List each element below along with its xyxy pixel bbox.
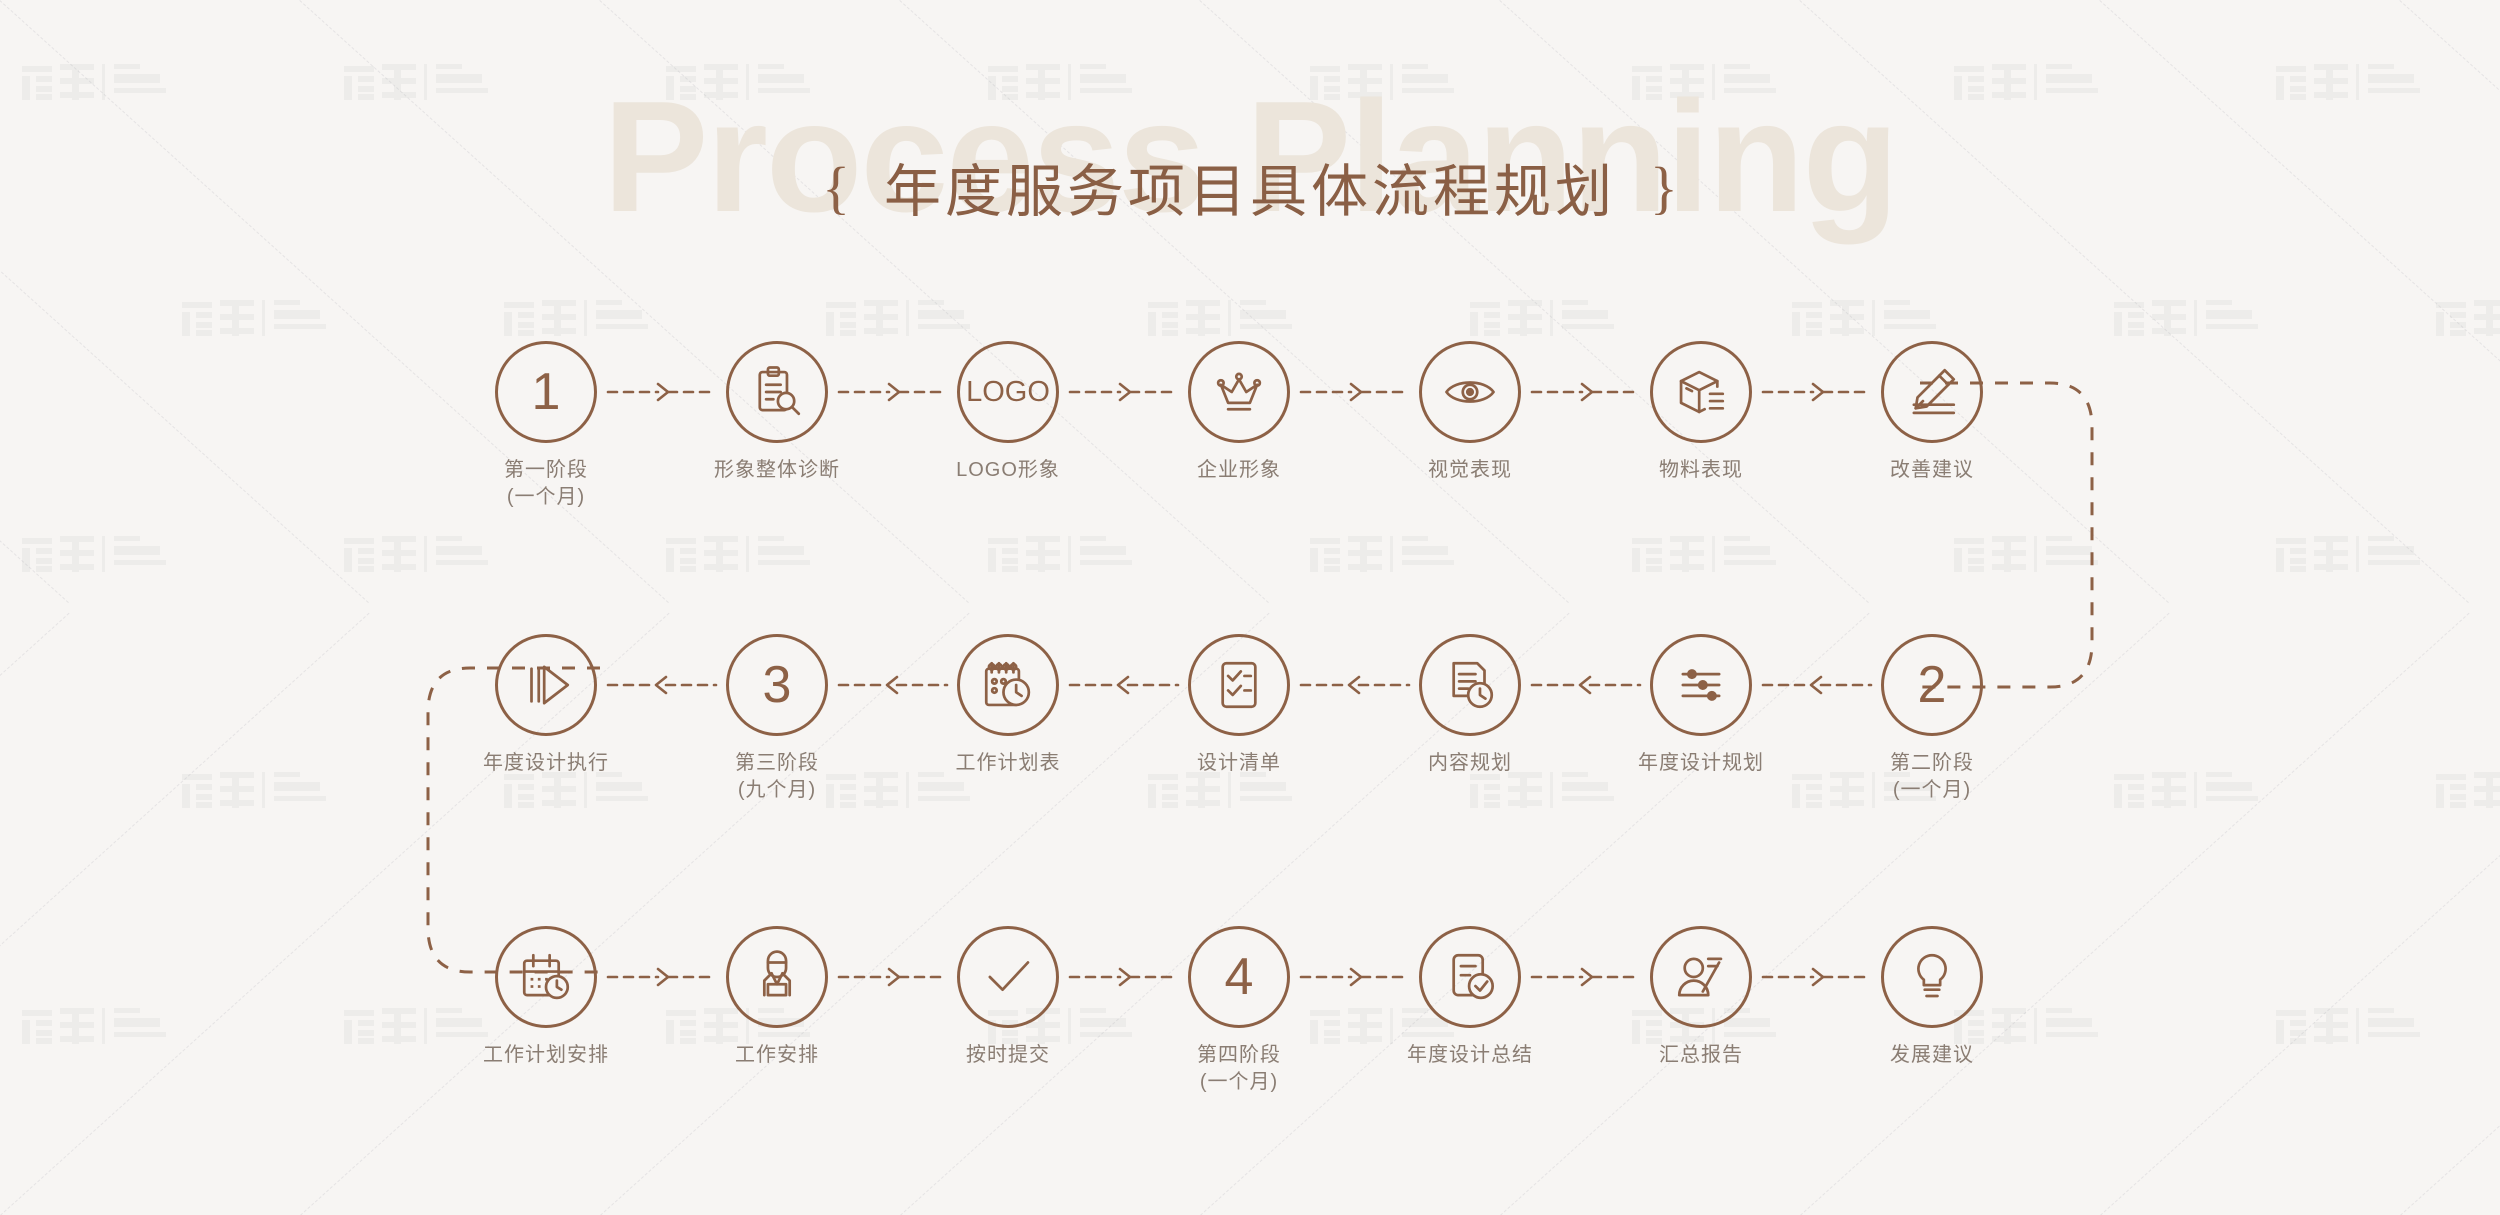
node-circle: 2	[1881, 634, 1983, 736]
flow-node[interactable]: 工作安排	[697, 926, 857, 1069]
lightbulb-icon	[1903, 948, 1961, 1006]
clipboard-search-icon	[748, 363, 806, 421]
node-circle	[1419, 341, 1521, 443]
node-circle: 1	[495, 341, 597, 443]
node-circle: 3	[726, 634, 828, 736]
node-circle	[726, 926, 828, 1028]
node-circle	[1650, 926, 1752, 1028]
node-label: 形象整体诊断	[697, 457, 857, 484]
node-label: 年度设计总结	[1390, 1042, 1550, 1069]
document-clock-icon	[1441, 656, 1499, 714]
glyph	[1903, 363, 1961, 421]
flow-node[interactable]: 发展建议	[1852, 926, 2012, 1069]
node-circle	[1188, 634, 1290, 736]
flow-node[interactable]: 视觉表现	[1390, 341, 1550, 484]
crown-icon	[1210, 363, 1268, 421]
node-label: 第二阶段 (一个月)	[1852, 750, 2012, 804]
glyph	[1672, 656, 1730, 714]
node-circle	[957, 634, 1059, 736]
node-label: 内容规划	[1390, 750, 1550, 777]
node-circle	[1650, 634, 1752, 736]
flow-node[interactable]: LOGOLOGO形象	[928, 341, 1088, 484]
node-label: 汇总报告	[1621, 1042, 1781, 1069]
user-report-icon	[1672, 948, 1730, 1006]
stage-number: 4	[1225, 951, 1254, 1003]
node-label: 物料表现	[1621, 457, 1781, 484]
glyph	[1441, 363, 1499, 421]
node-label: 第四阶段 (一个月)	[1159, 1042, 1319, 1096]
person-work-icon	[748, 948, 806, 1006]
glyph	[748, 363, 806, 421]
flow-node[interactable]: 内容规划	[1390, 634, 1550, 777]
node-circle	[1881, 926, 1983, 1028]
node-label: 年度设计执行	[466, 750, 626, 777]
glyph	[1441, 656, 1499, 714]
flow-node[interactable]: 工作计划安排	[466, 926, 626, 1069]
flow-node[interactable]: 按时提交	[928, 926, 1088, 1069]
calendar-clock-board-icon	[979, 656, 1037, 714]
node-label: 发展建议	[1852, 1042, 2012, 1069]
checklist-icon	[1210, 656, 1268, 714]
sliders-icon	[1672, 656, 1730, 714]
node-circle	[1881, 341, 1983, 443]
flow-node[interactable]: 2第二阶段 (一个月)	[1852, 634, 2012, 804]
node-label: 工作计划安排	[466, 1042, 626, 1069]
page-title: {年度服务项目具体流程规划}	[0, 146, 2500, 228]
node-label: 视觉表现	[1390, 457, 1550, 484]
node-label: 第一阶段 (一个月)	[466, 457, 626, 511]
node-circle	[1419, 926, 1521, 1028]
flow-node[interactable]: 形象整体诊断	[697, 341, 857, 484]
flow-node[interactable]: 物料表现	[1621, 341, 1781, 484]
flow-node[interactable]: 1第一阶段 (一个月)	[466, 341, 626, 511]
node-circle	[1188, 341, 1290, 443]
glyph	[748, 948, 806, 1006]
glyph	[1672, 948, 1730, 1006]
title-left-brace: {	[822, 154, 850, 221]
title-right-brace: }	[1650, 154, 1678, 221]
title-text: 年度服务项目具体流程规划	[884, 146, 1616, 228]
flow-node[interactable]: 设计清单	[1159, 634, 1319, 777]
flow-node[interactable]: 改善建议	[1852, 341, 2012, 484]
document-check-icon	[1441, 948, 1499, 1006]
flow-node[interactable]: 工作计划表	[928, 634, 1088, 777]
infographic-canvas: Process Planning {年度服务项目具体流程规划} 1第一阶段 (一…	[0, 0, 2500, 1215]
glyph	[517, 948, 575, 1006]
node-circle	[1650, 341, 1752, 443]
node-circle	[726, 341, 828, 443]
glyph	[517, 656, 575, 714]
stage-number: 3	[763, 659, 792, 711]
stage-number: 1	[532, 366, 561, 418]
flow-node[interactable]: 年度设计执行	[466, 634, 626, 777]
node-label: 工作安排	[697, 1042, 857, 1069]
node-circle	[495, 926, 597, 1028]
node-circle	[495, 634, 597, 736]
glyph	[1903, 948, 1961, 1006]
play-icon	[517, 656, 575, 714]
flow-node[interactable]: 年度设计总结	[1390, 926, 1550, 1069]
flow-node[interactable]: 企业形象	[1159, 341, 1319, 484]
glyph	[979, 948, 1037, 1006]
eye-icon	[1441, 363, 1499, 421]
glyph	[1672, 363, 1730, 421]
pen-edit-icon	[1903, 363, 1961, 421]
glyph	[1210, 656, 1268, 714]
node-label: LOGO形象	[928, 457, 1088, 484]
node-label: 改善建议	[1852, 457, 2012, 484]
glyph	[1441, 948, 1499, 1006]
node-circle	[957, 926, 1059, 1028]
calendar-clock-icon	[517, 948, 575, 1006]
glyph	[1210, 363, 1268, 421]
node-label: 企业形象	[1159, 457, 1319, 484]
node-circle	[1419, 634, 1521, 736]
flow-node[interactable]: 年度设计规划	[1621, 634, 1781, 777]
flow-node[interactable]: 汇总报告	[1621, 926, 1781, 1069]
flow-node[interactable]: 3第三阶段 (九个月)	[697, 634, 857, 804]
node-circle: LOGO	[957, 341, 1059, 443]
check-icon	[979, 948, 1037, 1006]
stage-number: 2	[1918, 659, 1947, 711]
node-label: 第三阶段 (九个月)	[697, 750, 857, 804]
glyph	[979, 656, 1037, 714]
node-circle: 4	[1188, 926, 1290, 1028]
node-label: 设计清单	[1159, 750, 1319, 777]
node-label: 按时提交	[928, 1042, 1088, 1069]
node-label: 年度设计规划	[1621, 750, 1781, 777]
flow-node[interactable]: 4第四阶段 (一个月)	[1159, 926, 1319, 1096]
box-list-icon	[1672, 363, 1730, 421]
logo-text-icon: LOGO	[966, 376, 1050, 409]
node-label: 工作计划表	[928, 750, 1088, 777]
